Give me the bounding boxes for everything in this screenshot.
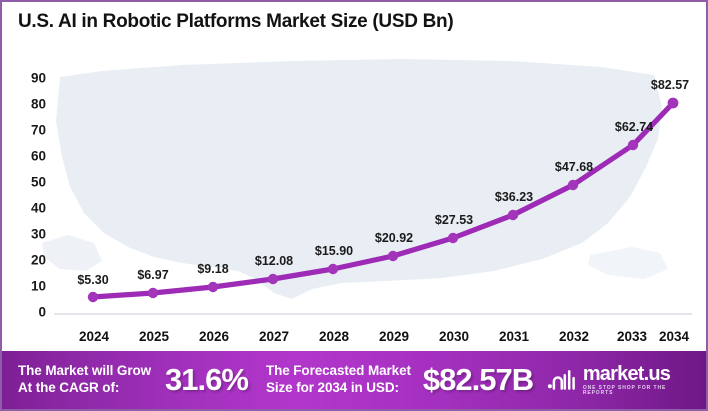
x-tick-label: 2032 [559, 329, 589, 344]
x-tick-label: 2028 [319, 329, 349, 344]
forecast-value: $82.57B [423, 362, 533, 398]
data-label: $15.90 [315, 244, 353, 258]
chart-plot-area: 90 80 70 60 50 40 30 20 10 0 $5.30 $6.97… [2, 42, 706, 352]
summary-footer-bar: The Market will Grow At the CAGR of: 31.… [2, 351, 706, 409]
x-tick-label: 2031 [499, 329, 529, 344]
data-label: $5.30 [77, 273, 108, 287]
data-label: $12.08 [255, 254, 293, 268]
data-line [93, 103, 673, 297]
market-us-logo-mark-icon [547, 369, 576, 391]
y-tick-label: 10 [10, 279, 46, 294]
x-tick-label: 2033 [617, 329, 647, 344]
data-label: $82.57 [651, 78, 689, 92]
chart-card: U.S. AI in Robotic Platforms Market Size… [0, 0, 708, 411]
cagr-label-line1: The Market will Grow [18, 363, 151, 380]
y-tick-label: 0 [10, 305, 46, 320]
x-tick-label: 2027 [259, 329, 289, 344]
y-tick-label: 50 [10, 175, 46, 190]
x-tick-label: 2029 [379, 329, 409, 344]
cagr-text-block: The Market will Grow At the CAGR of: [18, 363, 151, 397]
cagr-value: 31.6% [165, 362, 248, 398]
cagr-label-line2: At the CAGR of: [18, 380, 151, 397]
x-tick-label: 2034 [659, 329, 689, 344]
x-tick-label: 2024 [79, 329, 109, 344]
x-tick-label: 2025 [139, 329, 169, 344]
data-label: $62.74 [615, 120, 653, 134]
y-tick-label: 90 [10, 71, 46, 86]
data-label: $9.18 [197, 262, 228, 276]
page-title: U.S. AI in Robotic Platforms Market Size… [18, 11, 453, 33]
y-tick-label: 80 [10, 97, 46, 112]
forecast-text-block: The Forecasted Market Size for 2034 in U… [266, 363, 411, 397]
x-tick-label: 2030 [439, 329, 469, 344]
logo-tagline: ONE STOP SHOP FOR THE REPORTS [583, 386, 694, 396]
market-us-logo-text: market.us ONE STOP SHOP FOR THE REPORTS [583, 364, 694, 396]
y-tick-label: 60 [10, 149, 46, 164]
data-label: $27.53 [435, 213, 473, 227]
x-tick-label: 2026 [199, 329, 229, 344]
forecast-label-line1: The Forecasted Market [266, 363, 411, 380]
line-chart-svg [2, 42, 706, 352]
data-label: $36.23 [495, 190, 533, 204]
data-label: $6.97 [137, 268, 168, 282]
y-tick-label: 40 [10, 201, 46, 216]
data-label: $20.92 [375, 231, 413, 245]
y-tick-label: 70 [10, 123, 46, 138]
logo-name: market.us [583, 364, 694, 384]
forecast-label-line2: Size for 2034 in USD: [266, 380, 411, 397]
data-point-markers [88, 98, 679, 303]
data-label: $47.68 [555, 160, 593, 174]
y-tick-label: 20 [10, 253, 46, 268]
y-tick-label: 30 [10, 227, 46, 242]
market-us-logo[interactable]: market.us ONE STOP SHOP FOR THE REPORTS [547, 364, 694, 396]
